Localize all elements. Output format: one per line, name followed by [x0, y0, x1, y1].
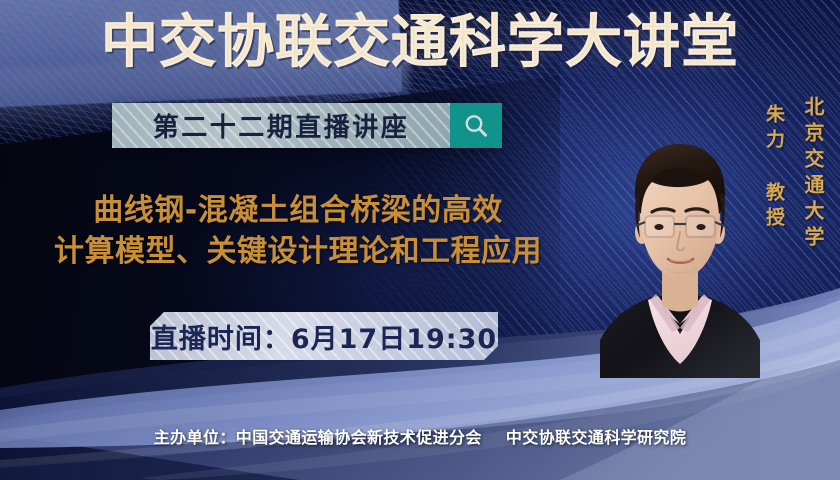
footer-organizers: 主办单位：中国交通运输协会新技术促进分会中交协联交通科学研究院: [0, 424, 840, 448]
episode-label-field: 第二十二期直播讲座: [112, 103, 450, 148]
organizer-secondary: 中交协联交通科学研究院: [506, 428, 686, 447]
speaker-portrait: [600, 128, 760, 378]
speaker-university: 北京交通大学: [799, 96, 828, 252]
lecture-title: 曲线钢-混凝土组合桥梁的高效 计算模型、关键设计理论和工程应用: [8, 190, 588, 273]
organizer-prefix: 主办单位：: [154, 428, 236, 447]
lecture-title-line1: 曲线钢-混凝土组合桥梁的高效: [8, 190, 588, 231]
episode-label: 第二十二期直播讲座: [153, 107, 410, 144]
search-button[interactable]: [450, 103, 502, 148]
speaker-name-title: 朱力 教授: [761, 104, 788, 232]
broadcast-time-badge: 直播时间：6月17日19:30: [150, 312, 498, 360]
episode-search-bar[interactable]: 第二十二期直播讲座: [112, 103, 502, 148]
broadcast-time-label: 直播时间：6月17日19:30: [151, 317, 497, 356]
organizer-primary: 中国交通运输协会新技术促进分会: [236, 428, 482, 447]
search-icon: [461, 111, 491, 141]
lecture-poster: 中交协联交通科学大讲堂 第二十二期直播讲座 曲线钢-混凝土组合桥梁的高效 计算模…: [0, 0, 840, 480]
page-title: 中交协联交通科学大讲堂: [0, 12, 840, 74]
lecture-title-line2: 计算模型、关键设计理论和工程应用: [8, 231, 588, 272]
